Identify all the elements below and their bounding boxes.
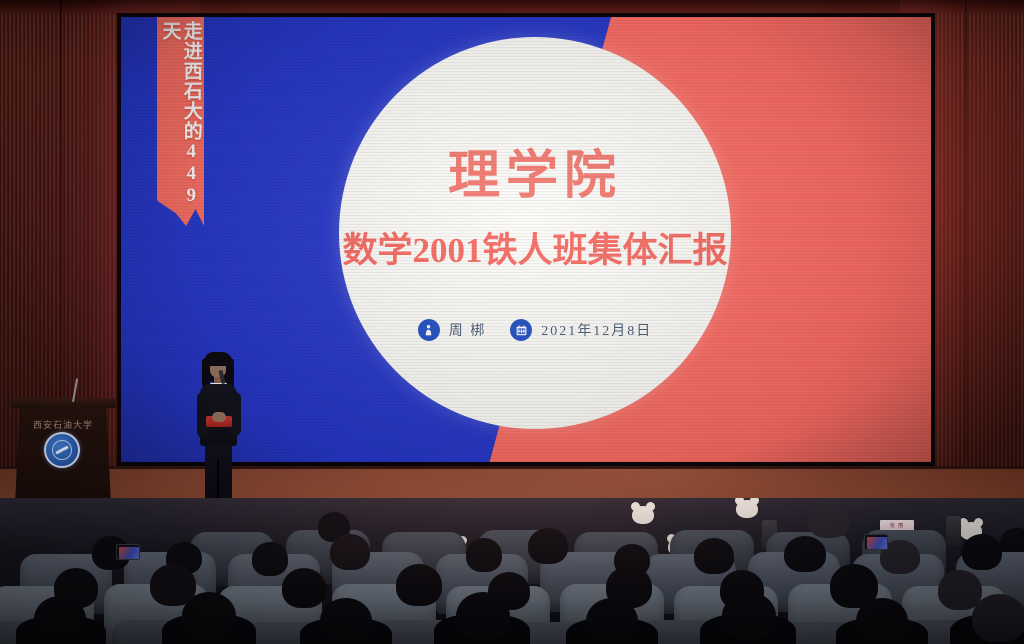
audience-head (330, 534, 370, 570)
smartphone-display (867, 537, 887, 549)
audience-head (456, 592, 510, 640)
audience-head (528, 528, 568, 564)
smartphone-display (119, 547, 139, 559)
audience-head (320, 598, 372, 644)
podium-university-name: 西安石油大学 (20, 418, 106, 431)
audience-head (396, 564, 442, 606)
audience-head (694, 538, 734, 574)
audience-head (34, 596, 86, 642)
audience-head (182, 592, 236, 640)
stage-front-edge (0, 466, 1024, 469)
university-emblem-icon (44, 432, 80, 468)
audience-head (972, 594, 1024, 642)
audience-head (282, 568, 326, 608)
slide-circle-panel: 理学院 数学2001铁人班集体汇报 周 梆 (339, 37, 731, 429)
thermos-bottle (946, 516, 961, 546)
presenter-hands (212, 412, 226, 422)
smartphone-screen (116, 544, 140, 560)
slide-title: 理学院 (448, 133, 622, 208)
presenter-arm-right (229, 392, 241, 436)
presenter-leg-gap (217, 460, 219, 502)
audience-head (252, 542, 288, 576)
presenter-arm-left (197, 392, 209, 438)
speaker-podium-icon (418, 319, 440, 341)
calendar-icon (510, 319, 532, 341)
audience-head (466, 538, 502, 572)
audience-head (856, 598, 908, 644)
auditorium-photo: 走进西石大的449天 理学院 数学2001铁人班集体汇报 周 梆 (0, 0, 1024, 644)
date-meta: 2021年12月8日 (510, 319, 652, 341)
audience-head (784, 536, 826, 572)
presenter-name: 周 梆 (449, 320, 487, 340)
audience-head (808, 504, 850, 538)
audience-head (962, 534, 1002, 570)
presenter-meta: 周 梆 (418, 319, 487, 341)
audience-head (722, 592, 776, 640)
smartphone-screen (864, 534, 888, 550)
presenter-person (190, 352, 246, 510)
slide-ribbon-banner: 走进西石大的449天 (157, 17, 204, 226)
slide-subtitle: 数学2001铁人班集体汇报 (342, 222, 727, 273)
plush-toy (736, 500, 758, 518)
slide-meta-row: 周 梆 (418, 319, 653, 341)
plush-toy (632, 506, 654, 524)
ribbon-text: 走进西石大的449天 (159, 21, 202, 226)
presentation-date: 2021年12月8日 (541, 320, 652, 340)
audience-head (586, 598, 638, 644)
audience-area: 张 丽 李 明 王 强 种 华 张 丽 种 华 (0, 498, 1024, 644)
